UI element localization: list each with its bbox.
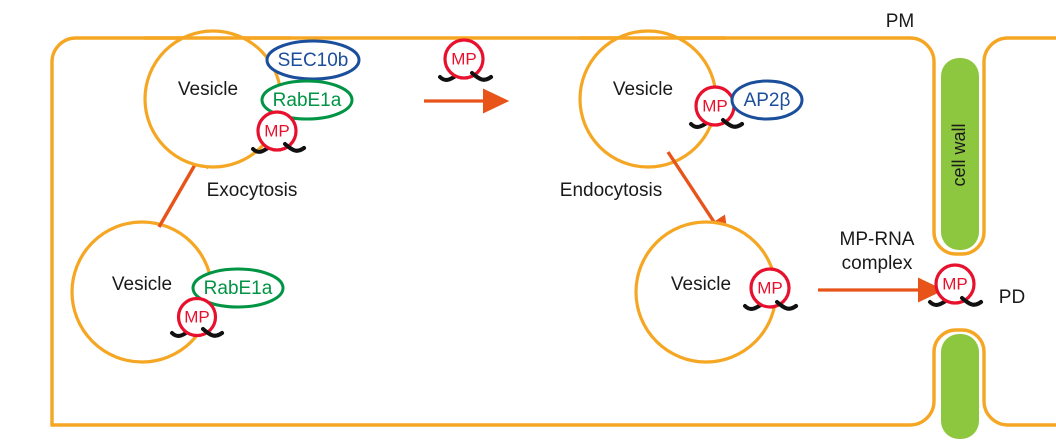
pm-path-lower (52, 330, 1056, 425)
rna-strand-front (472, 73, 491, 80)
cell-wall-lower-block (941, 334, 979, 439)
tag-sec10b: SEC10b (267, 41, 359, 79)
rna-strand-front (285, 144, 304, 151)
endocytosis-label: Endocytosis (560, 180, 662, 201)
rna-strand-front (962, 298, 981, 305)
pm-label: PM (886, 11, 915, 32)
rna-strand-front (723, 120, 742, 127)
mp-label: MP (451, 49, 477, 68)
cell-wall-label: cell wall (949, 123, 969, 186)
cell-trafficking-diagram: cell wall PM PD Vesicle RabE1a MP Exocyt… (0, 0, 1056, 444)
mp-at-plasmodesma: MP (930, 265, 981, 305)
vesicle-exocytosis-lower: Vesicle (72, 222, 212, 362)
cell-wall-group: cell wall (941, 58, 979, 439)
mp-label: MP (757, 278, 783, 297)
vesicle-label: Vesicle (613, 79, 673, 100)
mp-label: MP (264, 121, 290, 140)
vesicle-label: Vesicle (671, 274, 731, 295)
vesicle-endocytosis-upper: Vesicle (580, 31, 716, 167)
tag-label: RabE1a (204, 278, 273, 299)
arrow-endocytosis (668, 152, 718, 228)
figure-canvas: cell wall PM PD Vesicle RabE1a MP Exocyt… (0, 0, 1056, 444)
mp-at-membrane: MP (440, 40, 491, 80)
tag-label: RabE1a (273, 90, 342, 111)
tag-ap2b: AP2β (732, 81, 802, 119)
vesicle-label: Vesicle (178, 79, 238, 100)
mp-rna-complex-label-line1: MP-RNA (840, 229, 915, 250)
mp-label: MP (184, 307, 210, 326)
vesicle-label: Vesicle (112, 274, 172, 295)
tag-label: SEC10b (278, 50, 349, 71)
exocytosis-label: Exocytosis (207, 180, 298, 201)
rna-strand-front (777, 302, 796, 309)
mp-label: MP (702, 96, 728, 115)
arrow-exocytosis (159, 156, 200, 227)
tag-label: AP2β (744, 90, 791, 111)
mp-label: MP (942, 274, 968, 293)
pd-label: PD (999, 287, 1025, 308)
mp-rna-complex-label-line2: complex (842, 253, 913, 274)
